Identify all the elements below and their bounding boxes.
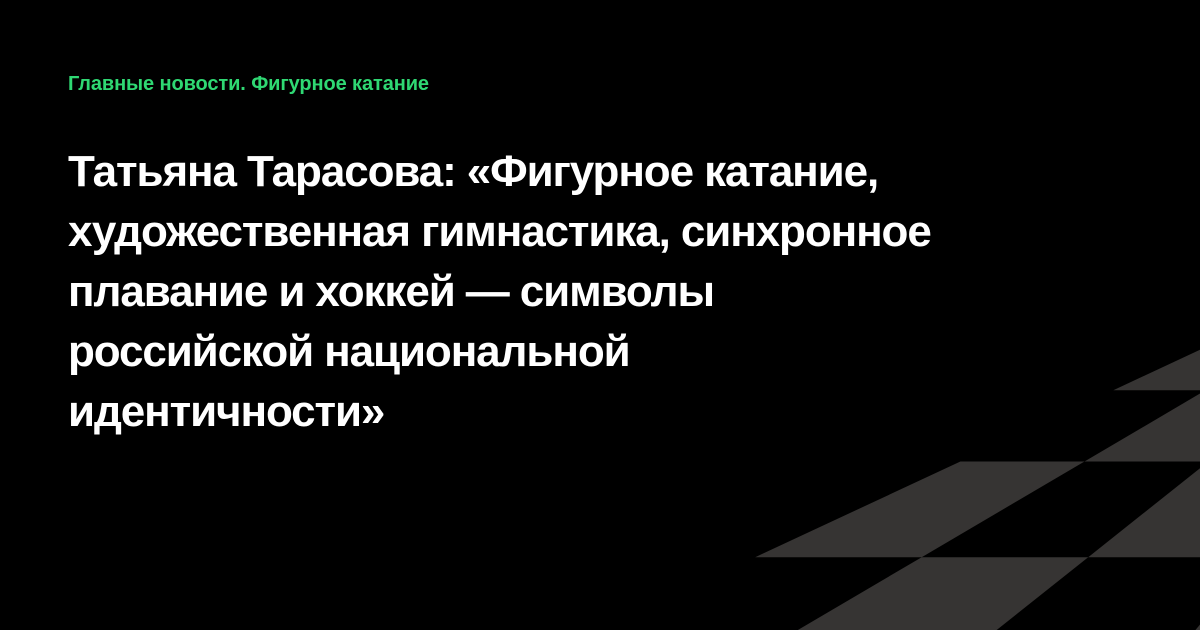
headline-line: российской национальной <box>68 322 1132 382</box>
headline-line: плавание и хоккей — символы <box>68 262 1132 322</box>
checker-tile <box>703 557 1088 630</box>
headline-line: Татьяна Тарасова: «Фигурное катание, <box>68 142 1132 202</box>
headline-line: художественная гимнастика, синхронное <box>68 202 1132 262</box>
checker-tile <box>755 462 1084 558</box>
headline: Татьяна Тарасова: «Фигурное катание, худ… <box>68 142 1132 442</box>
checker-tile <box>1150 557 1200 630</box>
share-card: Главные новости. Фигурное катание Татьян… <box>0 0 1200 630</box>
checker-tile <box>1088 462 1200 558</box>
section-kicker-label: Главные новости. Фигурное катание <box>68 72 1132 96</box>
headline-line: идентичности» <box>68 382 1132 442</box>
card-content: Главные новости. Фигурное катание Татьян… <box>0 0 1200 442</box>
